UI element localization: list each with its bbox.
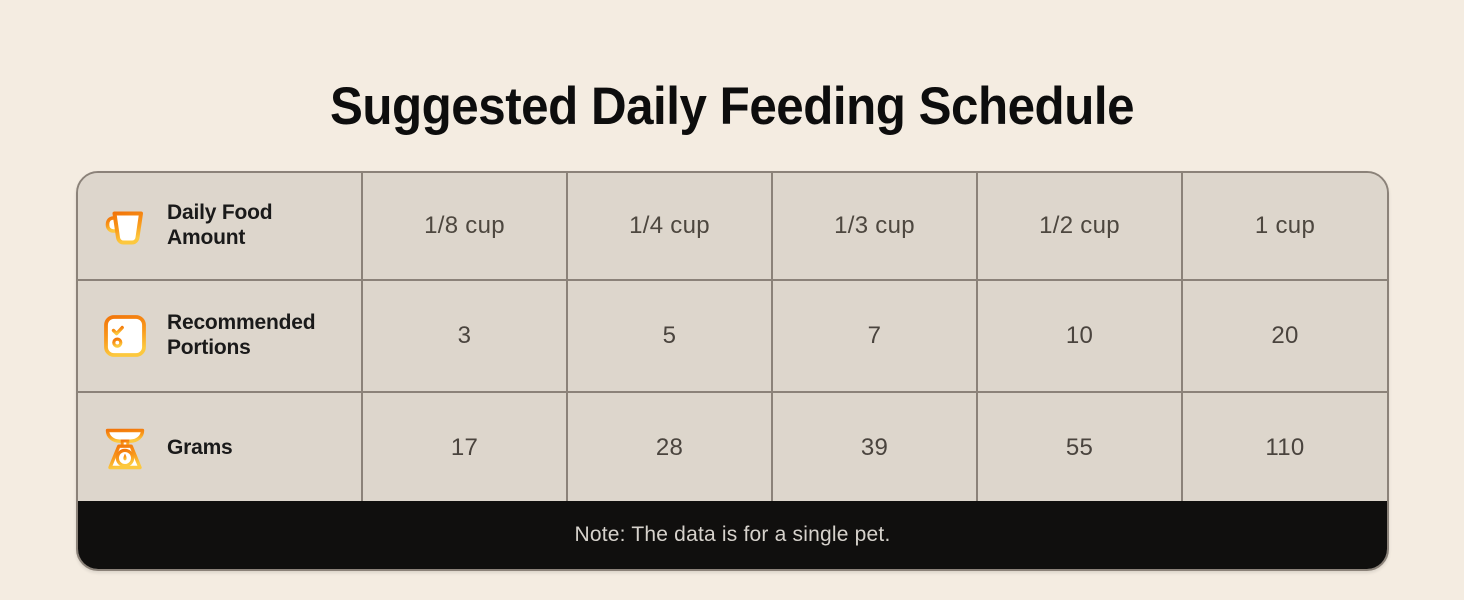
cell-value: 5 <box>568 281 771 391</box>
cell-daily-food-amount-col-5: 1 cup <box>1182 173 1387 280</box>
cell-value: 55 <box>978 393 1181 503</box>
cell-grams-col-2: 28 <box>567 392 772 504</box>
table-row: Grams 17 28 39 55 110 <box>78 392 1387 504</box>
cell-value: 1/3 cup <box>773 173 976 279</box>
row-header-recommended-portions: Recommended Portions <box>78 280 362 392</box>
cell-recommended-portions-col-5: 20 <box>1182 280 1387 392</box>
row-header-grams: Grams <box>78 392 362 504</box>
cell-value: 7 <box>773 281 976 391</box>
cell-daily-food-amount-col-2: 1/4 cup <box>567 173 772 280</box>
cell-value: 3 <box>363 281 566 391</box>
cell-recommended-portions-col-3: 7 <box>772 280 977 392</box>
row-label-line-2: Portions <box>167 336 251 359</box>
row-label-line-1: Daily Food <box>167 201 272 224</box>
checklist-icon <box>99 308 151 364</box>
cell-value: 1/4 cup <box>568 173 771 279</box>
cell-value: 110 <box>1183 393 1387 503</box>
kitchen-scale-icon <box>99 420 151 476</box>
cell-grams-col-1: 17 <box>362 392 567 504</box>
cell-grams-col-4: 55 <box>977 392 1182 504</box>
row-label-line-1: Recommended <box>167 311 315 334</box>
cell-daily-food-amount-col-3: 1/3 cup <box>772 173 977 280</box>
cell-daily-food-amount-col-4: 1/2 cup <box>977 173 1182 280</box>
table-row: Recommended Portions 3 5 7 10 20 <box>78 280 1387 392</box>
cell-recommended-portions-col-1: 3 <box>362 280 567 392</box>
row-label-line-2: Amount <box>167 226 245 249</box>
feeding-schedule-table-card: Daily Food Amount 1/8 cup 1/4 cup 1/3 cu… <box>76 171 1389 571</box>
footer-note: Note: The data is for a single pet. <box>78 501 1387 569</box>
page-title: Suggested Daily Feeding Schedule <box>51 78 1413 136</box>
table-row: Daily Food Amount 1/8 cup 1/4 cup 1/3 cu… <box>78 173 1387 280</box>
cell-recommended-portions-col-4: 10 <box>977 280 1182 392</box>
feeding-schedule-table: Daily Food Amount 1/8 cup 1/4 cup 1/3 cu… <box>78 173 1387 505</box>
cell-grams-col-5: 110 <box>1182 392 1387 504</box>
cell-value: 20 <box>1183 281 1387 391</box>
cell-daily-food-amount-col-1: 1/8 cup <box>362 173 567 280</box>
cell-recommended-portions-col-2: 5 <box>567 280 772 392</box>
row-label: Recommended Portions <box>167 311 315 361</box>
cell-value: 28 <box>568 393 771 503</box>
row-header-daily-food-amount: Daily Food Amount <box>78 173 362 280</box>
cell-value: 1/8 cup <box>363 173 566 279</box>
cell-value: 10 <box>978 281 1181 391</box>
row-label: Daily Food Amount <box>167 201 272 251</box>
measuring-cup-icon <box>99 198 151 254</box>
cell-value: 1/2 cup <box>978 173 1181 279</box>
cell-value: 1 cup <box>1183 173 1387 279</box>
feeding-schedule-infographic: Suggested Daily Feeding Schedule <box>0 0 1464 600</box>
cell-value: 17 <box>363 393 566 503</box>
cell-value: 39 <box>773 393 976 503</box>
row-label: Grams <box>167 436 233 461</box>
cell-grams-col-3: 39 <box>772 392 977 504</box>
